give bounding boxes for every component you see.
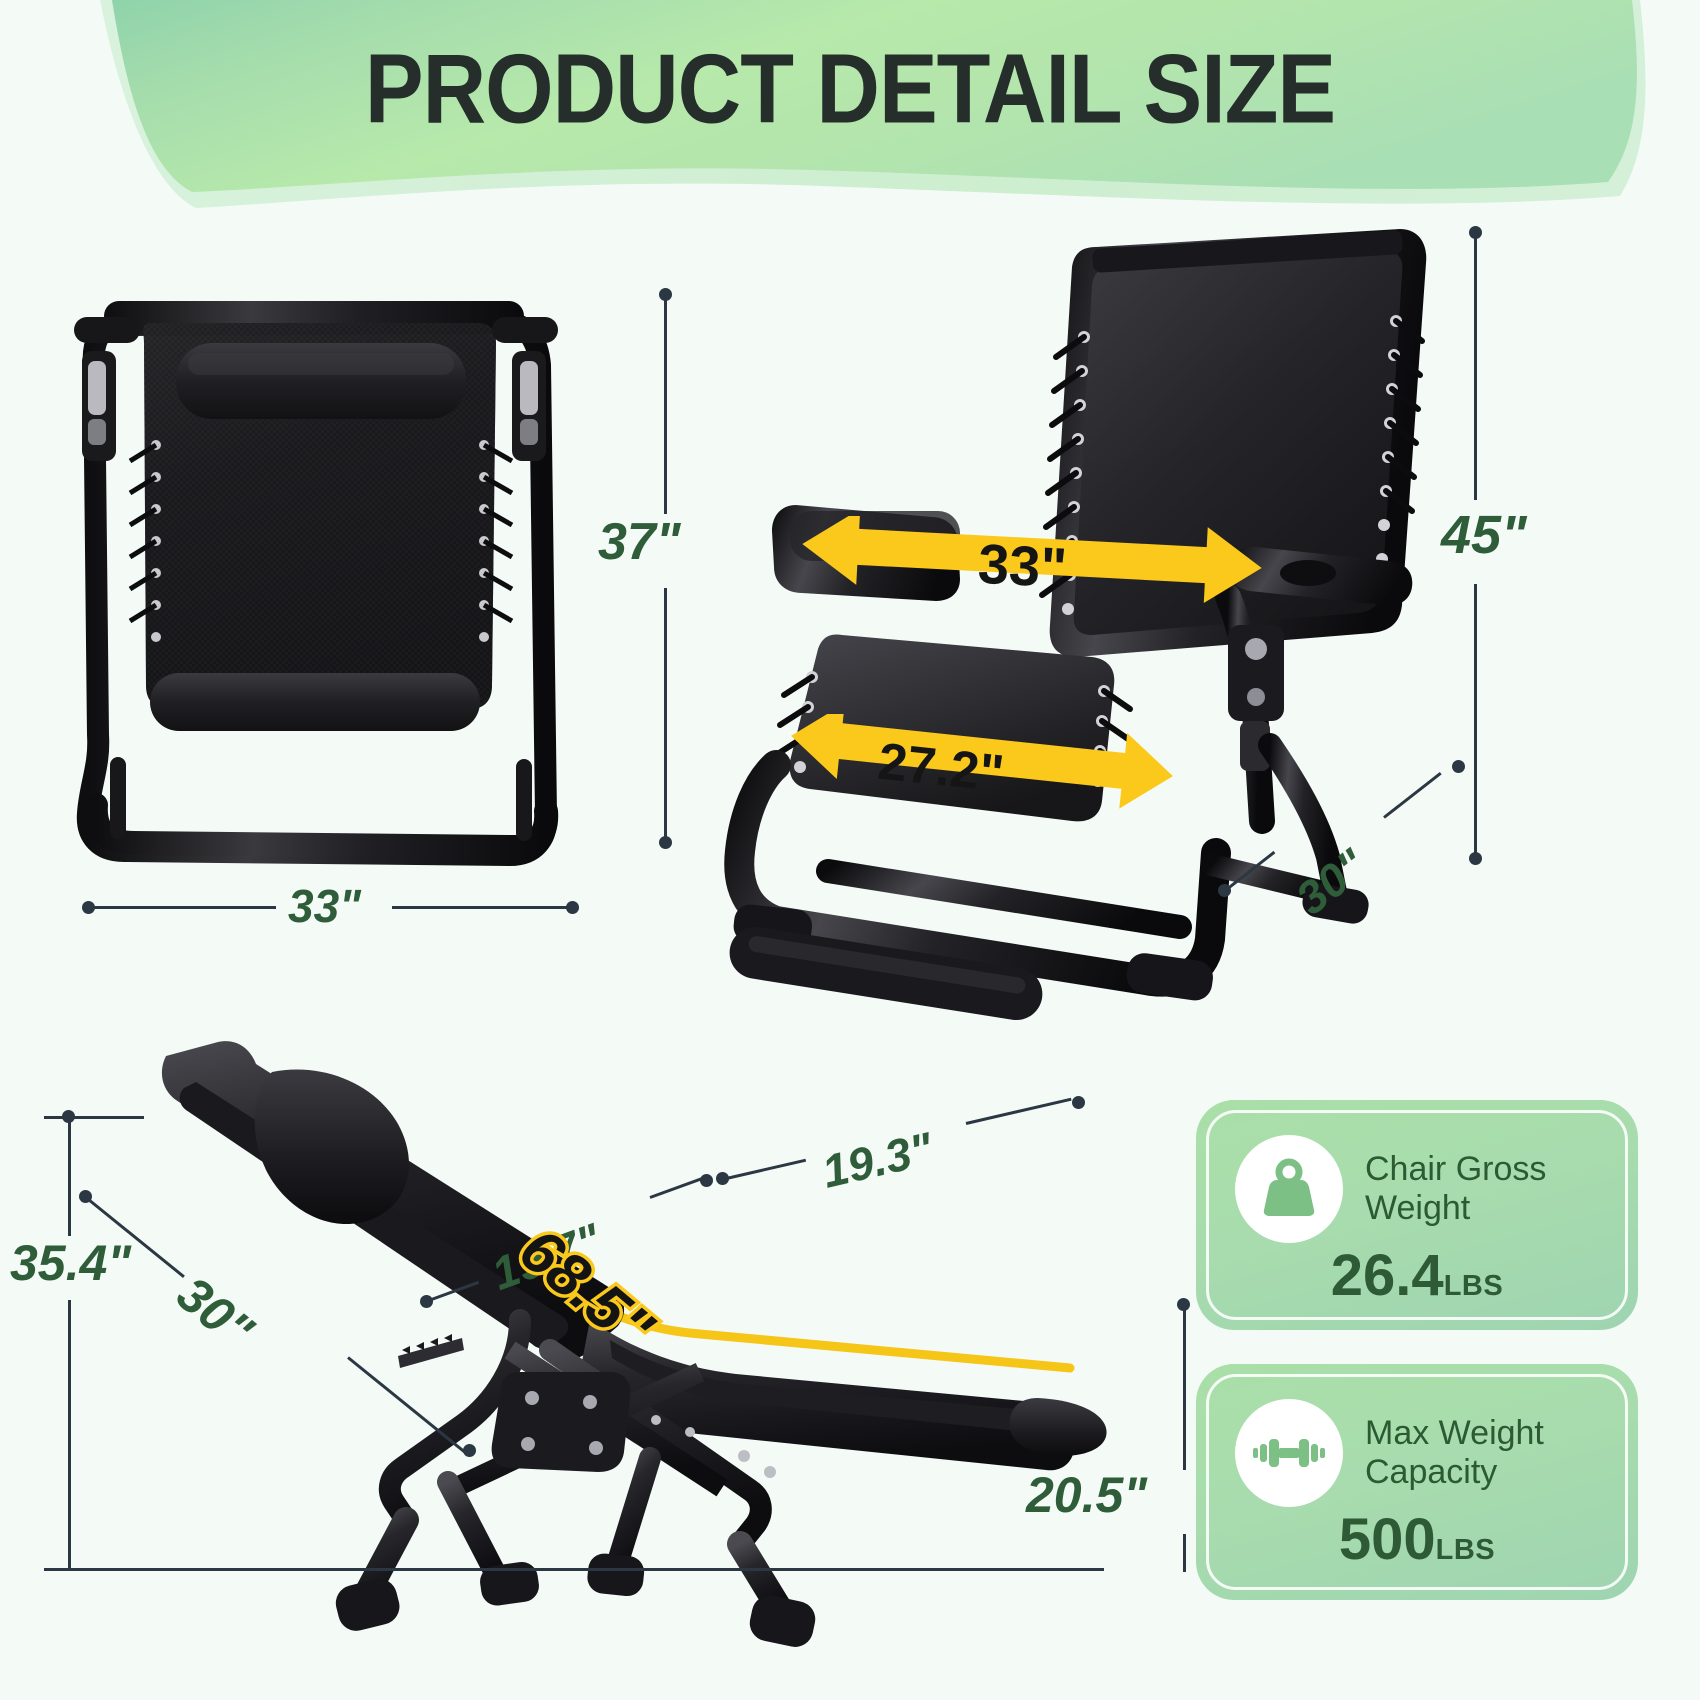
spec-label-max-weight-capacity: Max Weight Capacity <box>1365 1414 1544 1493</box>
dimension-label-20-5: 20.5" <box>1026 1470 1147 1520</box>
dimension-label-45: 45" <box>1441 508 1527 562</box>
spec-card-chair-gross-weight: Chair Gross Weight 26.4LBS <box>1196 1100 1638 1330</box>
weight-icon-circle <box>1235 1135 1343 1243</box>
dimension-upright-overall-width: 33" <box>792 516 1272 631</box>
weight-icon <box>1258 1158 1320 1220</box>
header-banner: PRODUCT DETAIL SIZE <box>0 0 1700 230</box>
spec-value-chair-gross-weight: 26.4LBS <box>1235 1247 1599 1305</box>
dimension-label-33-upright: 33" <box>977 536 1069 597</box>
dimension-label-33-folded: 33" <box>288 883 361 929</box>
infographic-canvas: PRODUCT DETAIL SIZE <box>0 0 1700 1700</box>
spec-card-max-weight-capacity: Max Weight Capacity 500LBS <box>1196 1364 1638 1600</box>
folded-chair-image <box>60 265 600 885</box>
page-title: PRODUCT DETAIL SIZE <box>0 32 1700 146</box>
dumbbell-icon <box>1252 1428 1326 1478</box>
spec-label-chair-gross-weight: Chair Gross Weight <box>1365 1150 1546 1229</box>
dimension-label-37: 37" <box>598 516 681 568</box>
dimension-label-35-4: 35.4" <box>10 1238 131 1288</box>
dimension-upright-seat-width: 27.2" <box>782 714 1182 829</box>
spec-value-max-weight-capacity: 500LBS <box>1235 1511 1599 1569</box>
dumbbell-icon-circle <box>1235 1399 1343 1507</box>
dimension-label-27-2: 27.2" <box>876 736 1007 801</box>
